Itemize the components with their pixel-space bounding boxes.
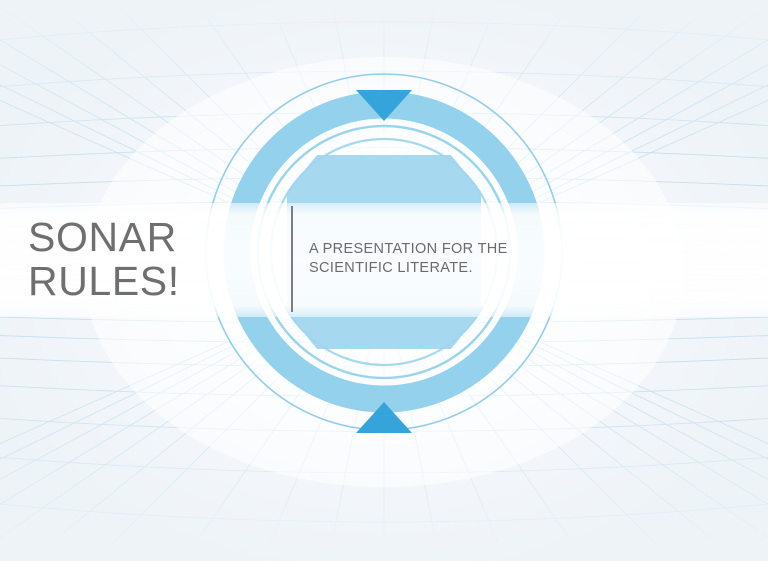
slide-title: SONAR RULES! <box>28 215 238 303</box>
presentation-slide: SONAR RULES! A PRESENTATION FOR THE SCIE… <box>0 0 768 561</box>
slide-title-line-2: RULES! <box>28 259 238 303</box>
slide-subtitle-line-2: SCIENTIFIC LITERATE. <box>309 259 508 278</box>
slide-subtitle: A PRESENTATION FOR THE SCIENTIFIC LITERA… <box>291 206 508 312</box>
slide-title-line-1: SONAR <box>28 215 238 259</box>
slide-subtitle-line-1: A PRESENTATION FOR THE <box>309 240 508 259</box>
subtitle-text-group: A PRESENTATION FOR THE SCIENTIFIC LITERA… <box>293 240 508 278</box>
